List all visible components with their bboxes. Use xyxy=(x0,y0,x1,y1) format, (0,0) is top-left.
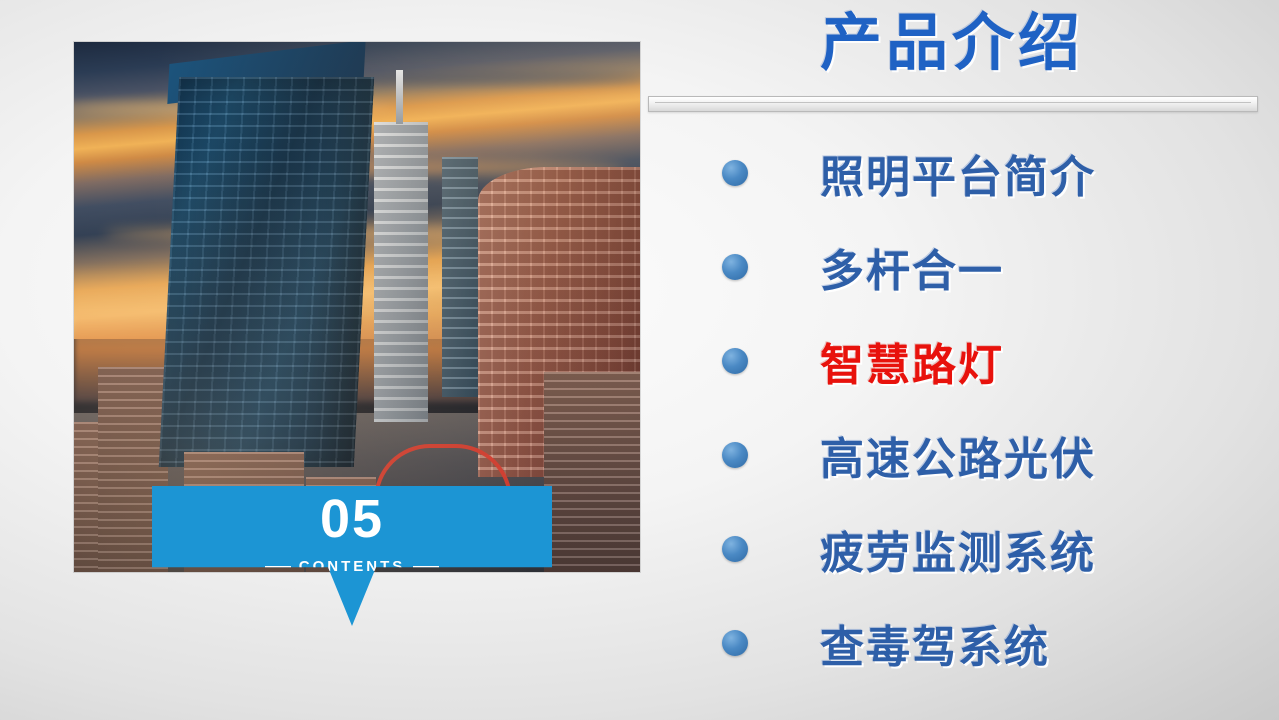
list-item[interactable]: 照明平台简介 xyxy=(660,126,1260,220)
bullet-dot-icon xyxy=(722,536,748,562)
white-tower xyxy=(374,122,428,422)
agenda-item-label-4: 高速公路光伏 xyxy=(820,423,1096,487)
contents-number: 05 xyxy=(152,492,552,546)
page-title-wrap: 产品介绍 xyxy=(648,10,1256,75)
tower-spire xyxy=(396,70,403,124)
contents-label: CONTENTS xyxy=(299,558,406,575)
bullet-dot-icon xyxy=(722,630,748,656)
page-title: 产品介绍 xyxy=(648,10,1256,75)
contents-chevron-badge: 05 CONTENTS xyxy=(152,486,552,626)
list-item[interactable]: 高速公路光伏 xyxy=(660,408,1260,502)
bullet-dot-icon xyxy=(722,442,748,468)
bullet-dot-icon xyxy=(722,348,748,374)
list-item[interactable]: 多杆合一 xyxy=(660,220,1260,314)
agenda-item-label-2: 多杆合一 xyxy=(820,235,1004,299)
glass-tower xyxy=(159,77,374,467)
agenda-list: 照明平台简介 多杆合一 智慧路灯 高速公路光伏 疲劳监测系统 查毒驾系统 xyxy=(660,126,1260,690)
bullet-dot-icon xyxy=(722,254,748,280)
bullet-dot-icon xyxy=(722,160,748,186)
slide-canvas: 05 CONTENTS 产品介绍 照明平台简介 多杆合一 智慧路灯 高速公路光伏… xyxy=(0,0,1279,720)
agenda-item-label-5: 疲劳监测系统 xyxy=(820,517,1096,581)
contents-label-wrap: CONTENTS xyxy=(152,558,552,575)
list-item[interactable]: 智慧路灯 xyxy=(660,314,1260,408)
agenda-item-label-6: 查毒驾系统 xyxy=(820,611,1050,675)
slim-tower xyxy=(442,157,478,397)
title-divider-bar xyxy=(648,96,1258,112)
list-item[interactable]: 查毒驾系统 xyxy=(660,596,1260,690)
agenda-item-label-3: 智慧路灯 xyxy=(820,329,1004,393)
foreground-block-3 xyxy=(544,372,640,572)
list-item[interactable]: 疲劳监测系统 xyxy=(660,502,1260,596)
agenda-item-label-1: 照明平台简介 xyxy=(820,141,1096,205)
